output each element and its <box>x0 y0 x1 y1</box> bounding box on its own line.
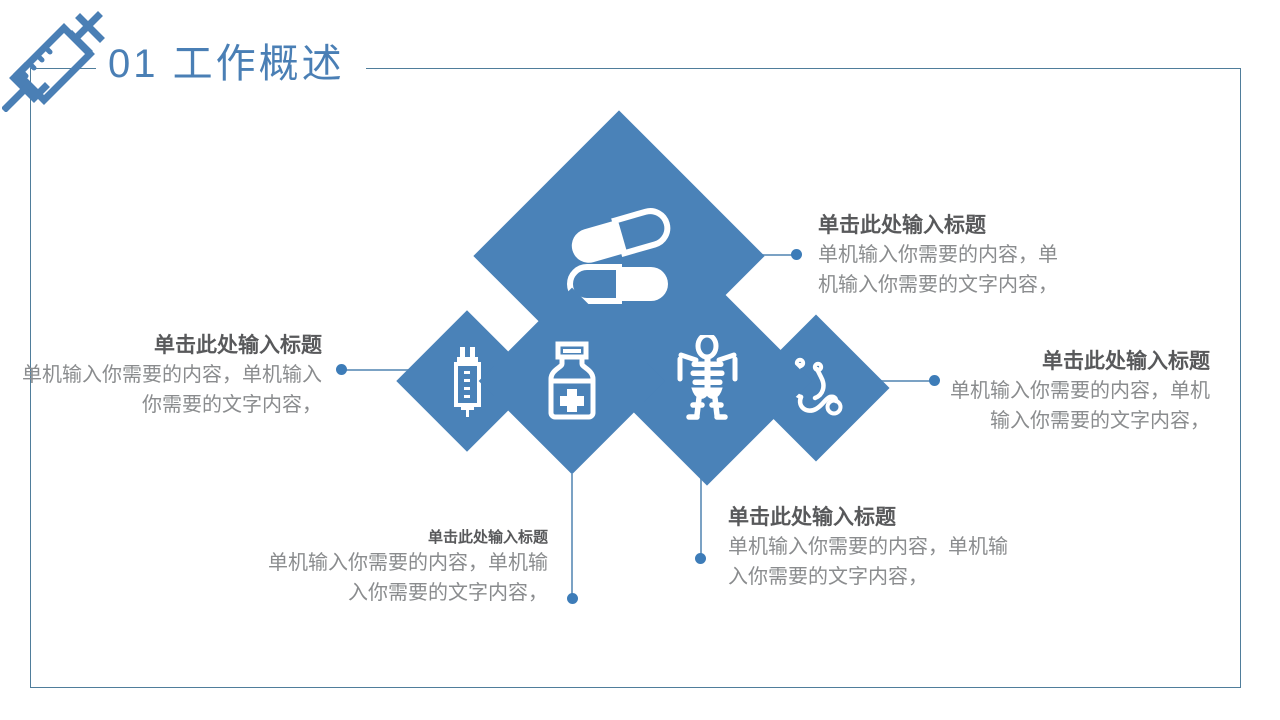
text-block-body: 单机输入你需要的内容，单机输入你需要的文字内容， <box>728 532 1008 592</box>
text-block-top-right[interactable]: 单击此处输入标题 单机输入你需要的内容，单机输入你需要的文字内容， <box>818 212 1068 300</box>
text-block-body: 单机输入你需要的内容，单机输入你需要的文字内容， <box>818 240 1068 300</box>
text-block-bottom-right[interactable]: 单击此处输入标题 单机输入你需要的内容，单机输入你需要的文字内容， <box>728 504 1008 592</box>
slide-canvas: 01 工作概述 <box>0 0 1280 720</box>
text-block-left[interactable]: 单击此处输入标题 单机输入你需要的内容，单机输入你需要的文字内容， <box>22 332 322 420</box>
connector-dot-bottom-left <box>567 593 578 604</box>
text-block-bottom-left[interactable]: 单击此处输入标题 单机输入你需要的内容，单机输入你需要的文字内容， <box>258 528 548 608</box>
connector-dot-right <box>929 375 940 386</box>
connector-line-bottom-left <box>571 474 573 598</box>
text-block-title: 单击此处输入标题 <box>258 528 548 548</box>
text-block-title: 单击此处输入标题 <box>22 332 322 360</box>
skeleton-icon <box>665 335 749 427</box>
page-title: 01 工作概述 <box>108 40 345 88</box>
text-block-body: 单机输入你需要的内容，单机输入你需要的文字内容， <box>258 548 548 608</box>
text-block-title: 单击此处输入标题 <box>950 348 1210 376</box>
text-block-body: 单机输入你需要的内容，单机输入你需要的文字内容， <box>22 360 322 420</box>
text-block-right[interactable]: 单击此处输入标题 单机输入你需要的内容，单机输入你需要的文字内容， <box>950 348 1210 436</box>
connector-dot-top-right <box>791 249 802 260</box>
text-block-body: 单机输入你需要的内容，单机输入你需要的文字内容， <box>950 376 1210 436</box>
connector-dot-left <box>336 364 347 375</box>
medicine-bottle-icon <box>536 341 608 421</box>
connector-dot-bottom-right <box>695 553 706 564</box>
text-block-title: 单击此处输入标题 <box>728 504 1008 532</box>
text-block-title: 单击此处输入标题 <box>818 212 1068 240</box>
syringe-icon <box>2 4 110 112</box>
